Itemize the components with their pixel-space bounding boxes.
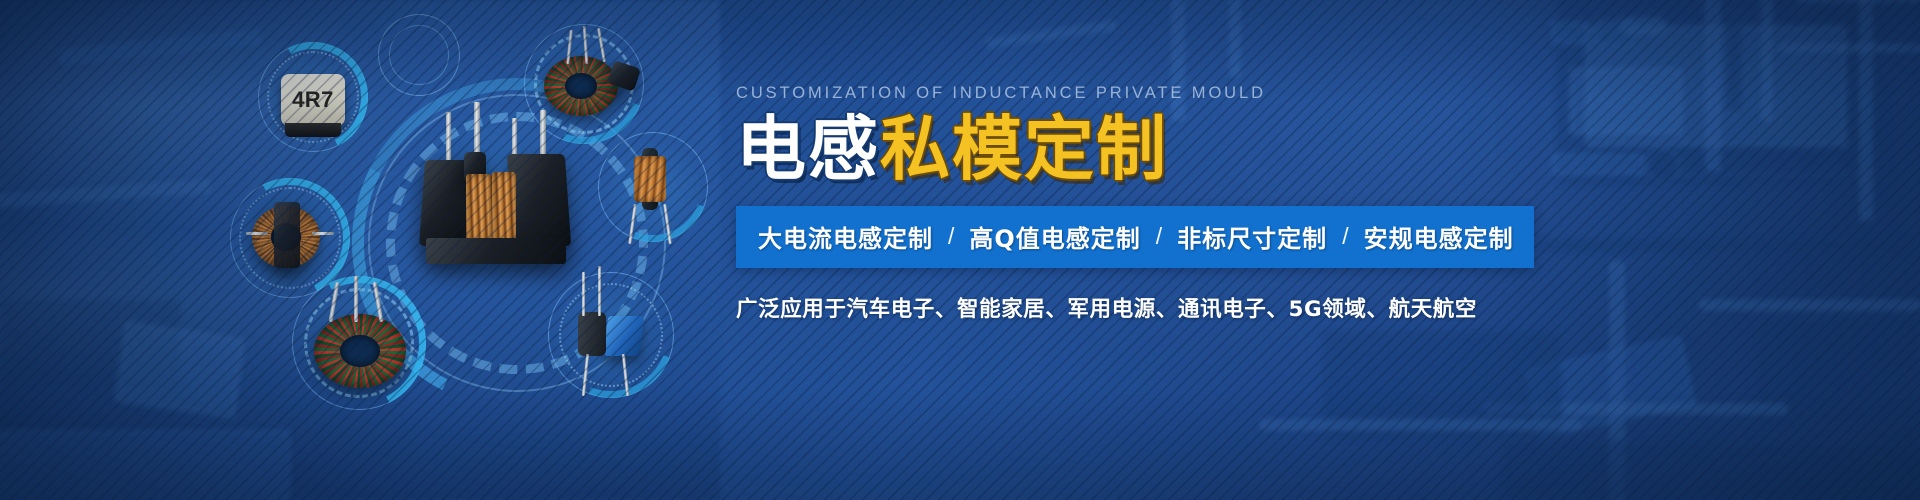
feature-item-1: 大电流电感定制 <box>758 219 933 254</box>
banner-eyebrow-english: CUSTOMIZATION OF INDUCTANCE PRIVATE MOUL… <box>736 84 1796 103</box>
feature-separator-1: / <box>933 223 969 250</box>
headline-white-part: 电感 <box>736 108 880 190</box>
hero-banner: 4R7 <box>0 0 1920 500</box>
banner-subline-applications: 广泛应用于汽车电子、智能家居、军用电源、通讯电子、5G领域、航天航空 <box>736 292 1796 323</box>
feature-item-2: 高Q值电感定制 <box>969 219 1140 254</box>
banner-headline: 电感私模定制 <box>736 113 1796 186</box>
feature-separator-2: / <box>1141 223 1177 250</box>
feature-separator-3: / <box>1327 223 1363 250</box>
feature-item-4: 安规电感定制 <box>1364 219 1514 254</box>
banner-content: CUSTOMIZATION OF INDUCTANCE PRIVATE MOUL… <box>736 84 1796 323</box>
feature-item-3: 非标尺寸定制 <box>1177 219 1327 254</box>
feature-bar: 大电流电感定制 / 高Q值电感定制 / 非标尺寸定制 / 安规电感定制 <box>736 206 1534 268</box>
headline-gold-part: 私模定制 <box>880 108 1168 190</box>
